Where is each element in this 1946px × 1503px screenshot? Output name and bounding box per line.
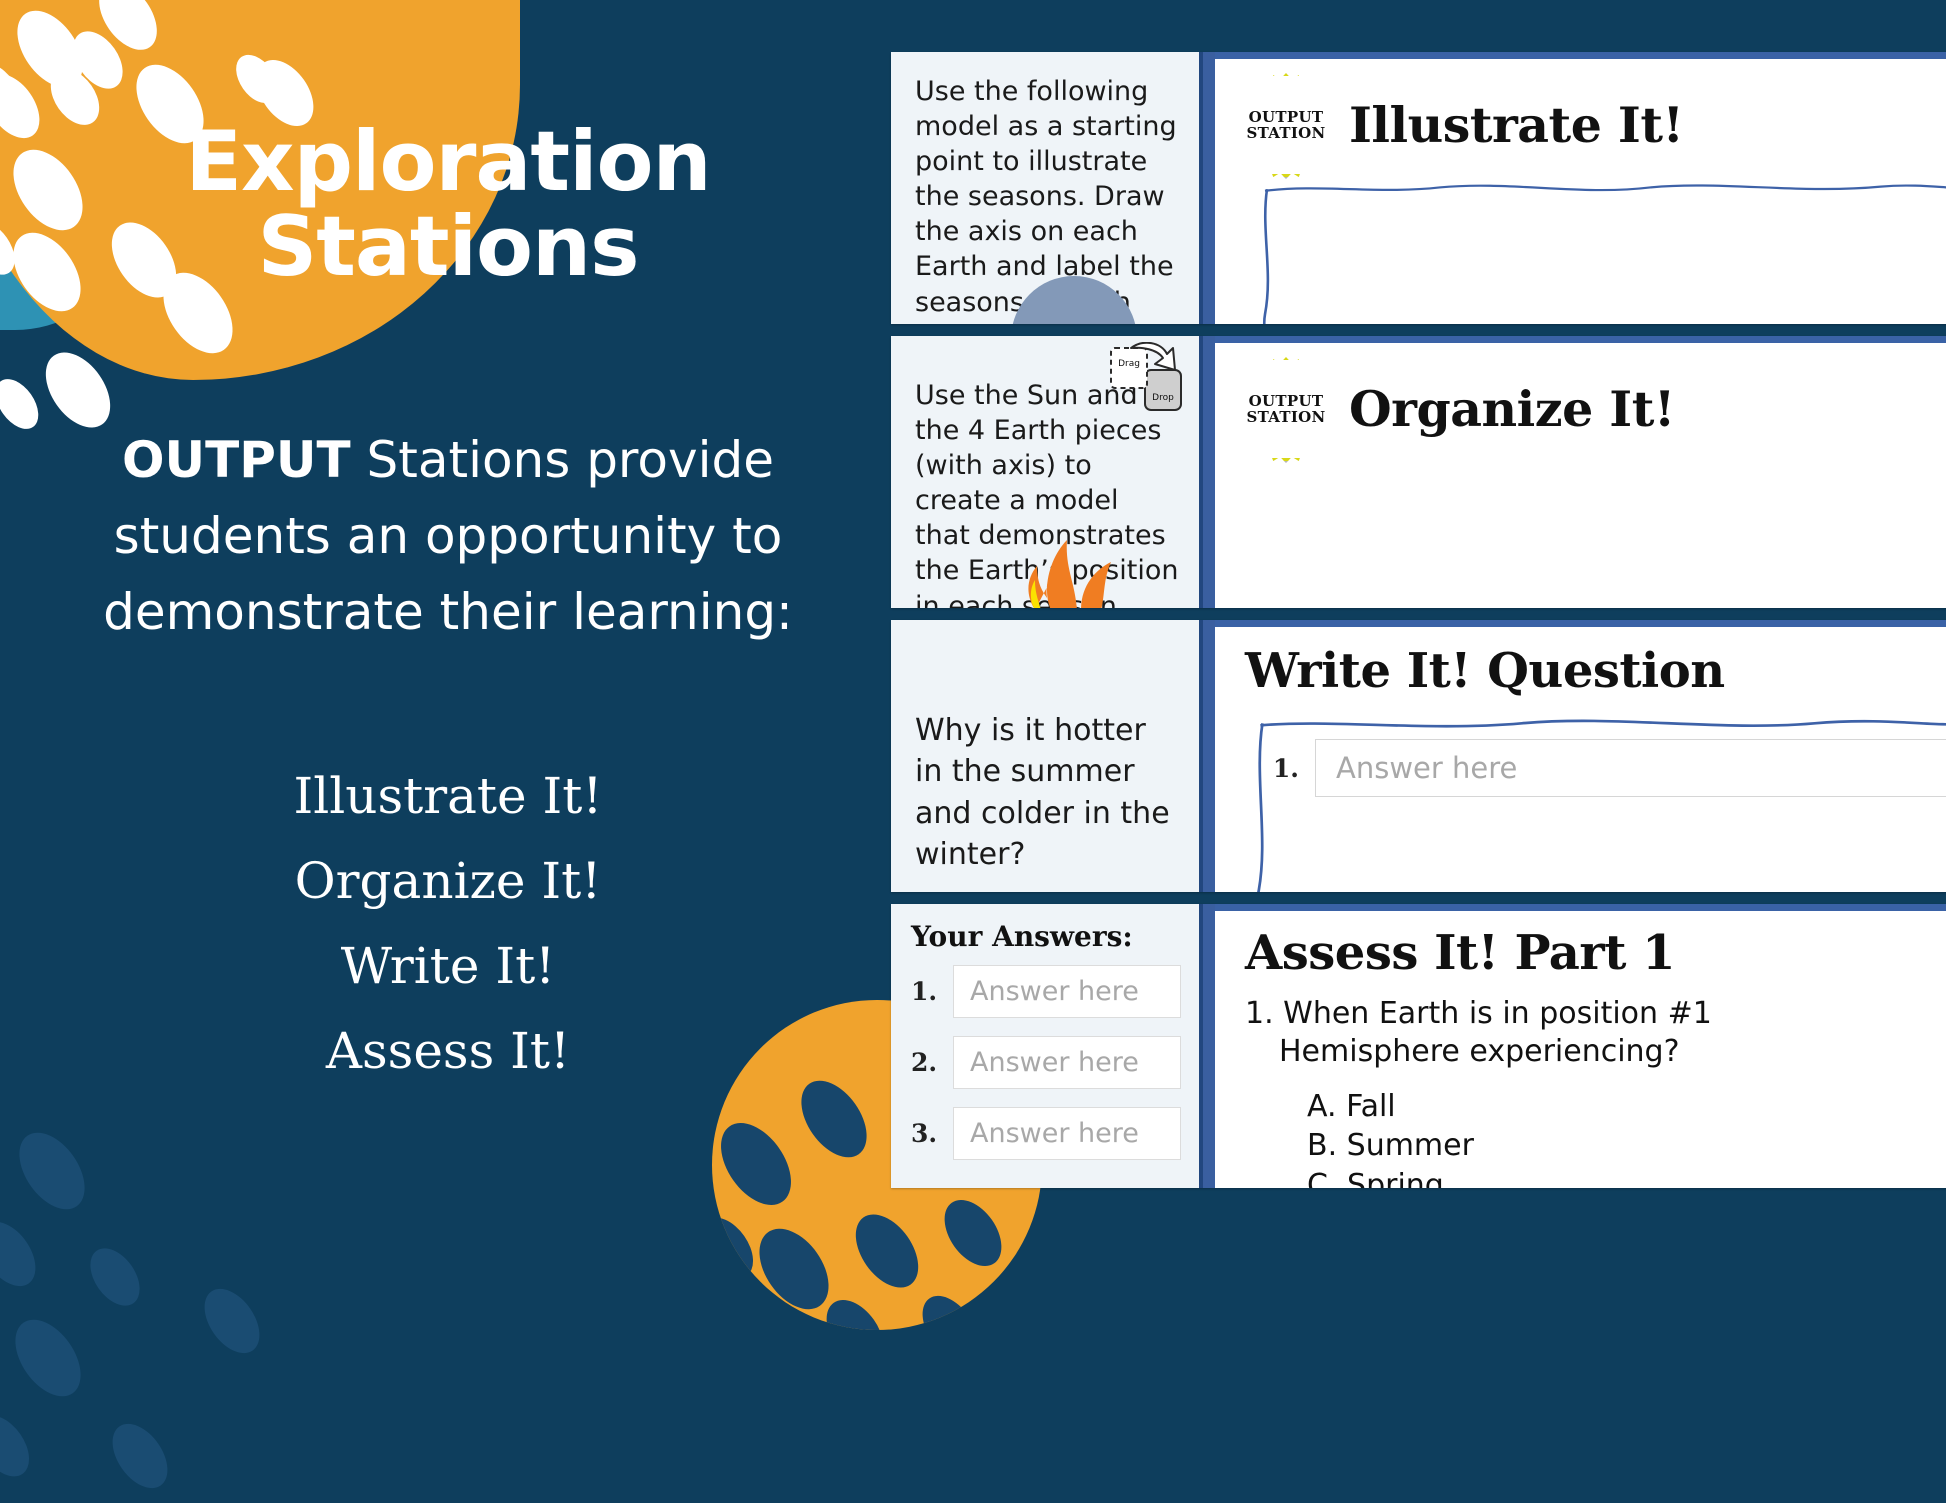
svg-text:Drop: Drop <box>1152 393 1174 403</box>
page-title: Exploration Stations <box>38 120 858 289</box>
assess-question-line-2: Hemisphere experiencing? <box>1245 1033 1946 1071</box>
write-answer-number: 1. <box>1271 754 1299 783</box>
badge-line-2: STATION <box>1246 409 1325 426</box>
output-station-badge-icon: OUTPUT STATION <box>1237 73 1335 177</box>
station-list-item-write: Write It! <box>38 924 858 1009</box>
your-answers-row[interactable]: 1. Answer here <box>911 965 1181 1018</box>
assess-option-c[interactable]: C. Spring <box>1307 1166 1946 1188</box>
flame-icon <box>997 538 1127 608</box>
badge-line-1: OUTPUT <box>1246 109 1325 126</box>
assess-question-line-1: 1. When Earth is in position #1 <box>1245 996 1712 1031</box>
your-answers-number: 1. <box>911 977 941 1006</box>
panel-assess-it[interactable]: Your Answers: 1. Answer here 2. Answer h… <box>891 904 1946 1188</box>
assess-option-b[interactable]: B. Summer <box>1307 1126 1946 1166</box>
your-answers-input[interactable]: Answer here <box>953 965 1181 1018</box>
title-line-2: Stations <box>257 198 638 295</box>
assess-option-list: A. Fall B. Summer C. Spring D. Winter <box>1215 1071 1946 1188</box>
write-answer-row[interactable]: 1. Answer here <box>1271 739 1946 797</box>
your-answers-row[interactable]: 2. Answer here <box>911 1036 1181 1089</box>
panel-illustrate-prompt-pane: Use the following model as a starting po… <box>891 52 1199 324</box>
your-answers-input[interactable]: Answer here <box>953 1036 1181 1089</box>
illustrate-drawing-area[interactable] <box>1259 179 1946 324</box>
badge-line-1: OUTPUT <box>1246 393 1325 410</box>
panel-write-divider <box>1199 620 1215 892</box>
panel-assess-title: Assess It! Part 1 <box>1245 925 1675 981</box>
drag-drop-icon: Drop Drag <box>1097 342 1193 428</box>
panel-organize-header: OUTPUT STATION Organize It! <box>1215 343 1946 461</box>
panel-illustrate-header: OUTPUT STATION Illustrate It! <box>1215 59 1946 177</box>
write-answer-input[interactable]: Answer here <box>1315 739 1946 797</box>
panel-assess-header: Assess It! Part 1 <box>1215 911 1946 981</box>
panel-write-content-pane: Write It! Question 1. Answer here <box>1215 620 1946 892</box>
panel-assess-content-pane: Assess It! Part 1 1. When Earth is in po… <box>1215 904 1946 1188</box>
badge-line-2: STATION <box>1246 125 1325 142</box>
body-description: OUTPUT Stations provide students an oppo… <box>38 422 858 650</box>
panel-organize-title: Organize It! <box>1349 380 1675 438</box>
output-station-badge-icon: OUTPUT STATION <box>1237 357 1335 461</box>
body-lead-word: OUTPUT <box>122 431 351 489</box>
panel-assess-answers-pane: Your Answers: 1. Answer here 2. Answer h… <box>891 904 1199 1188</box>
panel-organize-divider <box>1199 336 1215 608</box>
panel-illustrate-title: Illustrate It! <box>1349 96 1684 154</box>
your-answers-number: 3. <box>911 1119 941 1148</box>
panel-illustrate-divider <box>1199 52 1215 324</box>
panel-write-it[interactable]: Why is it hotter in the summer and colde… <box>891 620 1946 892</box>
station-list-item-illustrate: Illustrate It! <box>38 754 858 839</box>
panel-write-header: Write It! Question <box>1215 627 1946 699</box>
your-answers-row[interactable]: 3. Answer here <box>911 1107 1181 1160</box>
svg-text:Drag: Drag <box>1118 359 1140 369</box>
slide-canvas: Exploration Stations OUTPUT Stations pro… <box>0 0 1946 1503</box>
station-list-item-assess: Assess It! <box>38 1009 858 1094</box>
panel-illustrate-content-pane: OUTPUT STATION Illustrate It! <box>1215 52 1946 324</box>
globe-label: E <box>1055 322 1084 324</box>
panel-organize-prompt-pane: Use the Sun and the 4 Earth pieces (with… <box>891 336 1199 608</box>
panel-write-prompt-text: Why is it hotter in the summer and colde… <box>915 642 1181 876</box>
panel-illustrate-it[interactable]: Use the following model as a starting po… <box>891 52 1946 324</box>
your-answers-input[interactable]: Answer here <box>953 1107 1181 1160</box>
station-list: Illustrate It! Organize It! Write It! As… <box>38 754 858 1094</box>
title-line-1: Exploration <box>185 113 710 210</box>
panel-organize-content-pane: OUTPUT STATION Organize It! <box>1215 336 1946 608</box>
station-preview-stack: Use the following model as a starting po… <box>891 52 1946 1200</box>
assess-option-a[interactable]: A. Fall <box>1307 1087 1946 1127</box>
your-answers-number: 2. <box>911 1048 941 1077</box>
left-content-column: Exploration Stations OUTPUT Stations pro… <box>38 120 858 1094</box>
assess-question-text: 1. When Earth is in position #1 Hemisphe… <box>1215 981 1946 1071</box>
panel-write-prompt-pane: Why is it hotter in the summer and colde… <box>891 620 1199 892</box>
panel-write-title: Write It! Question <box>1245 643 1725 699</box>
panel-organize-it[interactable]: Use the Sun and the 4 Earth pieces (with… <box>891 336 1946 608</box>
station-list-item-organize: Organize It! <box>38 839 858 924</box>
panel-assess-divider <box>1199 904 1215 1188</box>
your-answers-label: Your Answers: <box>911 920 1181 953</box>
